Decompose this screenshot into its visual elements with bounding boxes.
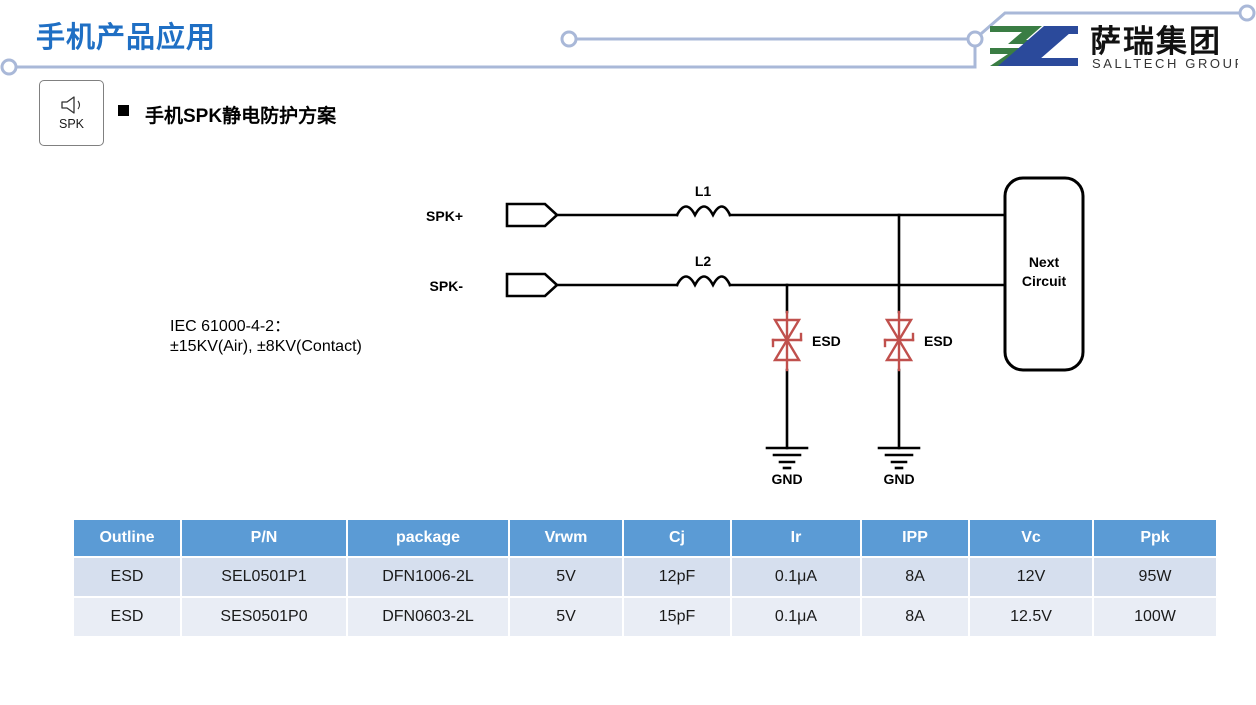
spk-badge-label: SPK: [59, 118, 84, 131]
circuit-diagram: SPK+ SPK- L1 L2 ESD ESD GND GND Next Cir…: [150, 160, 1110, 500]
cell-vrwm: 5V: [510, 598, 622, 636]
cell-vrwm: 5V: [510, 558, 622, 596]
decor-node-left: [2, 60, 16, 74]
label-esd-2: ESD: [924, 333, 953, 349]
label-spk-minus: SPK-: [430, 278, 464, 294]
cell-cj: 12pF: [624, 558, 730, 596]
cell-outline: ESD: [74, 558, 180, 596]
label-l1: L1: [695, 183, 712, 199]
label-next-circuit-line1: Next: [1029, 254, 1060, 270]
esd-device-1: [773, 312, 801, 370]
label-l2: L2: [695, 253, 712, 269]
cell-ppk: 100W: [1094, 598, 1216, 636]
terminal-spk-minus-shape: [507, 274, 557, 296]
cell-cj: 15pF: [624, 598, 730, 636]
label-gnd-2: GND: [883, 471, 914, 487]
section-bullet-icon: [118, 105, 129, 116]
cell-ppk: 95W: [1094, 558, 1216, 596]
decor-node-right: [1240, 6, 1254, 20]
cell-vc: 12V: [970, 558, 1092, 596]
iec-standard-line-2: ±15KV(Air), ±8KV(Contact): [170, 338, 362, 356]
cell-pn: SEL0501P1: [182, 558, 346, 596]
section-title: 手机SPK静电防护方案: [145, 101, 336, 128]
cell-outline: ESD: [74, 598, 180, 636]
inductor-l1-coil: [677, 207, 730, 216]
col-package: package: [348, 520, 508, 556]
decor-node-junction: [968, 32, 982, 46]
brand-name-cn: 萨瑞集团: [1090, 24, 1222, 59]
col-ppk: Ppk: [1094, 520, 1216, 556]
col-pn: P/N: [182, 520, 346, 556]
slide-root: 手机产品应用 萨瑞集团 SALLTECH GROUP SPK 手机SPK静电防护…: [0, 0, 1256, 705]
cell-vc: 12.5V: [970, 598, 1092, 636]
cell-pn: SES0501P0: [182, 598, 346, 636]
cell-ir: 0.1μA: [732, 558, 860, 596]
col-ipp: IPP: [862, 520, 968, 556]
table-row: ESD SEL0501P1 DFN1006-2L 5V 12pF 0.1μA 8…: [74, 558, 1216, 596]
cell-ipp: 8A: [862, 558, 968, 596]
label-next-circuit-line2: Circuit: [1022, 273, 1067, 289]
label-gnd-1: GND: [771, 471, 802, 487]
inductor-l2-coil: [677, 277, 730, 286]
iec-standard-line-1: IEC 61000-4-2：: [170, 312, 290, 336]
circuit-svg: SPK+ SPK- L1 L2 ESD ESD GND GND Next Cir…: [150, 160, 1110, 500]
col-ir: Ir: [732, 520, 860, 556]
esd-device-2: [885, 312, 913, 370]
spec-table: Outline P/N package Vrwm Cj Ir IPP Vc Pp…: [72, 518, 1218, 638]
col-vc: Vc: [970, 520, 1092, 556]
spk-badge: SPK: [39, 80, 104, 146]
cell-ir: 0.1μA: [732, 598, 860, 636]
table-row: ESD SES0501P0 DFN0603-2L 5V 15pF 0.1μA 8…: [74, 598, 1216, 636]
label-esd-1: ESD: [812, 333, 841, 349]
table-header-row: Outline P/N package Vrwm Cj Ir IPP Vc Pp…: [74, 520, 1216, 556]
col-outline: Outline: [74, 520, 180, 556]
cell-package: DFN1006-2L: [348, 558, 508, 596]
cell-ipp: 8A: [862, 598, 968, 636]
col-vrwm: Vrwm: [510, 520, 622, 556]
label-spk-plus: SPK+: [426, 208, 463, 224]
col-cj: Cj: [624, 520, 730, 556]
decor-node-middle: [562, 32, 576, 46]
speaker-icon: [59, 95, 85, 115]
brand-name-en: SALLTECH GROUP: [1092, 56, 1238, 71]
brand-logo: 萨瑞集团 SALLTECH GROUP: [986, 16, 1238, 74]
cell-package: DFN0603-2L: [348, 598, 508, 636]
page-title: 手机产品应用: [36, 14, 216, 56]
terminal-spk-plus-shape: [507, 204, 557, 226]
